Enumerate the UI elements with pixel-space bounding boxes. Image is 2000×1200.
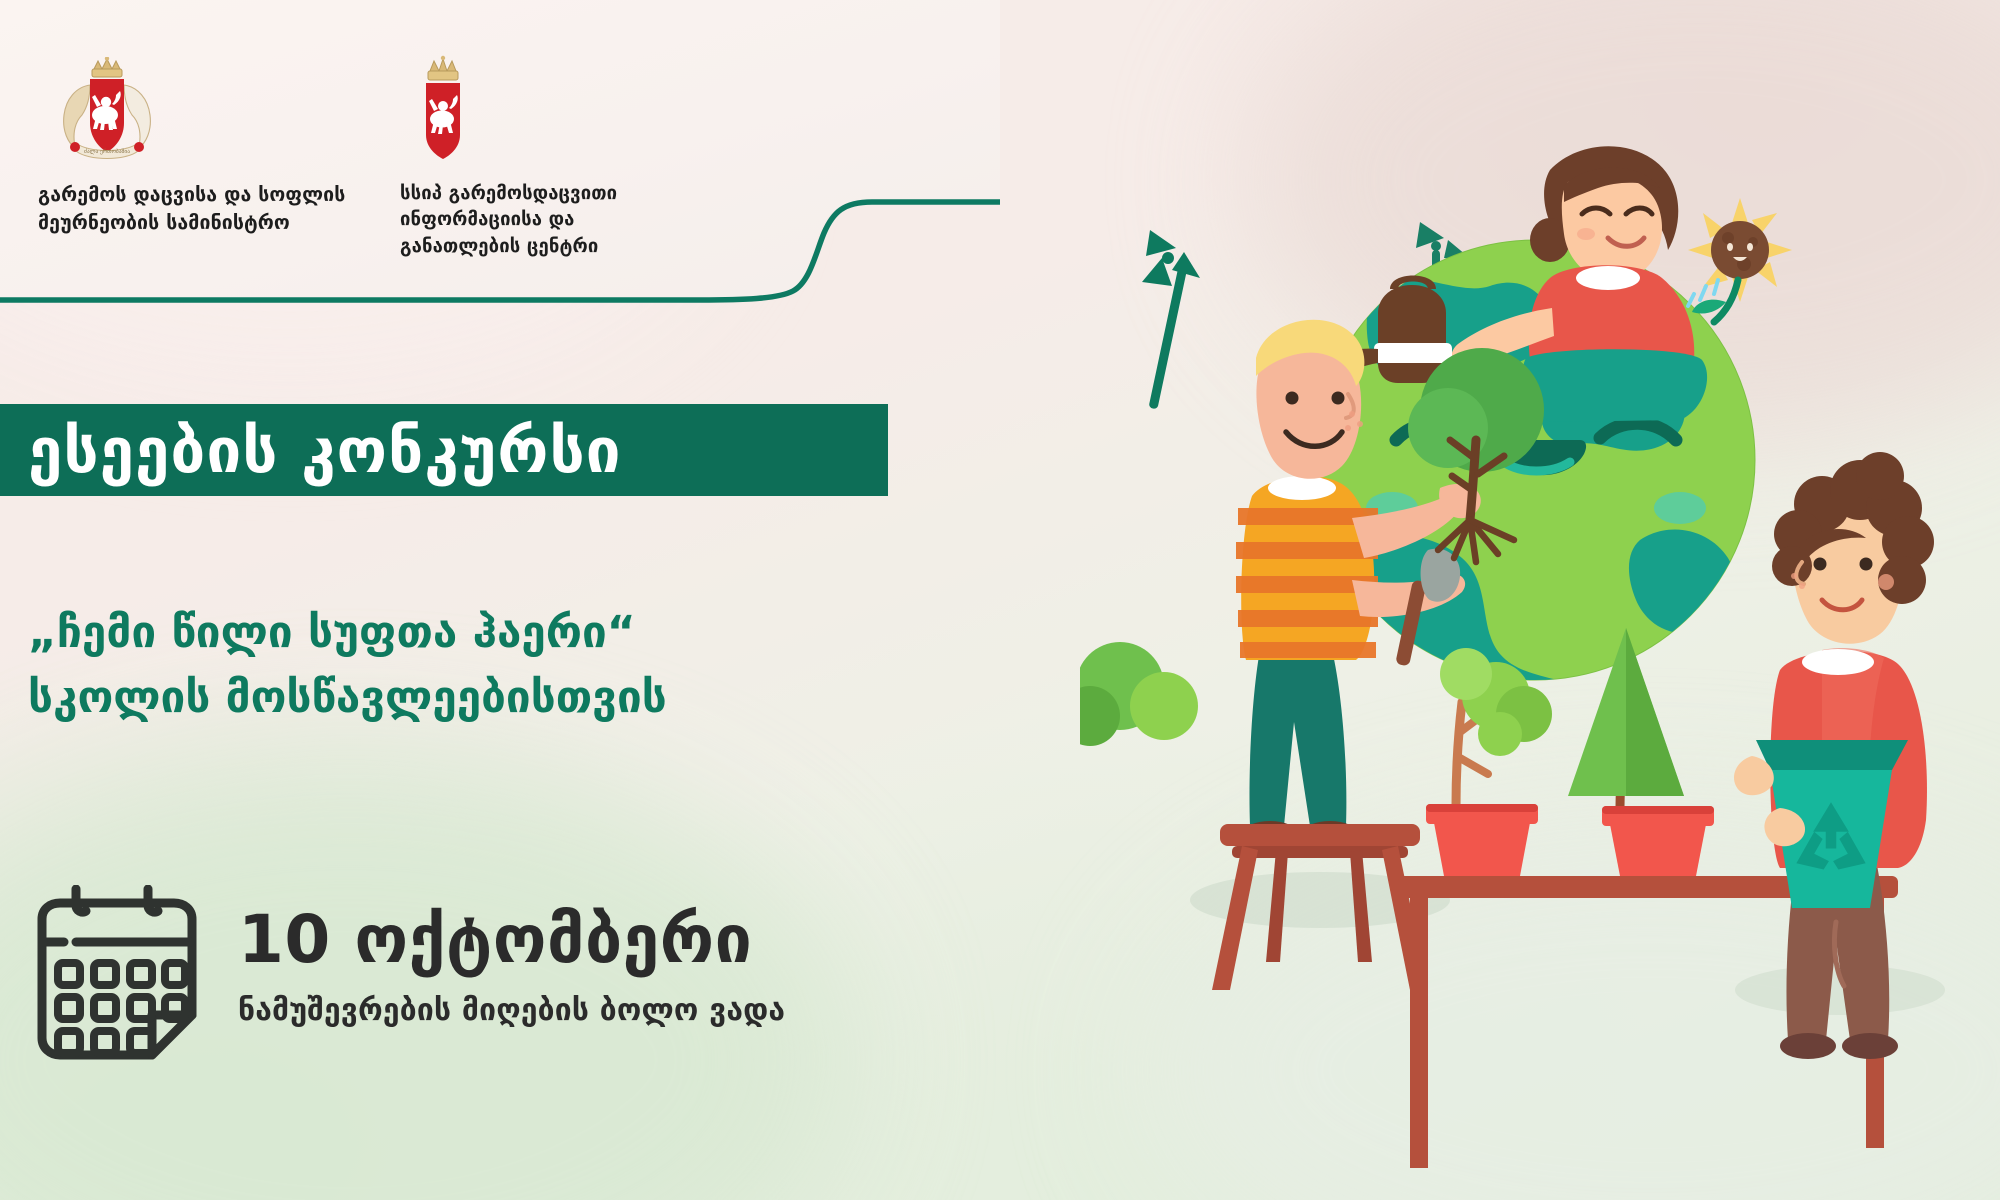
deadline-caption: ნამუშევრების მიღების ბოლო ვადა	[238, 993, 785, 1028]
deadline-text: 10 ოქტომბერი ნამუშევრების მიღების ბოლო ვ…	[238, 885, 785, 1028]
boy-collar	[1268, 476, 1336, 500]
potted-plant-left	[1426, 648, 1552, 876]
center-logo-line-2: ინფორმაციისა და	[400, 207, 730, 233]
recycle-boy-eye-right	[1860, 558, 1873, 571]
deadline-date: 10 ოქტომბერი	[238, 907, 785, 973]
boy-pants	[1249, 650, 1346, 826]
georgia-state-coat-of-arms-icon: ძალა ერთობაშია	[42, 55, 358, 165]
boy-eye-left	[1286, 392, 1299, 405]
logo-row: ძალა ერთობაშია გარემოს დაცვისა და სოფლის…	[0, 55, 900, 260]
center-logo-line-3: განათლების ცენტრი	[400, 234, 730, 260]
ministry-logo: ძალა ერთობაშია გარემოს დაცვისა და სოფლის…	[38, 55, 358, 260]
svg-text:ძალა ერთობაშია: ძალა ერთობაშია	[84, 148, 130, 155]
foreground-bush	[1080, 642, 1198, 746]
deadline-block: 10 ოქტომბერი ნამუშევრების მიღების ბოლო ვ…	[28, 885, 785, 1065]
ministry-logo-line-1: გარემოს დაცვისა და სოფლის	[38, 181, 358, 209]
title-banner: ესეების კონკურსი	[0, 404, 888, 496]
calendar-icon	[28, 885, 204, 1065]
center-logo: სსიპ გარემოსდაცვითი ინფორმაციისა და განა…	[400, 55, 730, 260]
girl-dress	[1523, 349, 1707, 422]
georgia-shield-crest-icon	[408, 55, 730, 165]
ministry-logo-text: გარემოს დაცვისა და სოფლის მეურნეობის სამ…	[38, 181, 358, 236]
boy-shirt	[1241, 476, 1374, 660]
center-logo-text: სსიპ გარემოსდაცვითი ინფორმაციისა და განა…	[400, 181, 730, 260]
center-logo-line-1: სსიპ გარემოსდაცვითი	[400, 181, 730, 207]
recycle-boy-collar	[1802, 649, 1874, 675]
children-planting-earth-illustration	[1080, 110, 2000, 1200]
sunflower	[1688, 198, 1792, 322]
boy-eye-right	[1332, 392, 1345, 405]
girl-collar	[1576, 266, 1640, 290]
ministry-logo-line-2: მეურნეობის სამინისტრო	[38, 209, 358, 237]
page-title: ესეების კონკურსი	[28, 414, 622, 487]
wind-turbine-left	[1142, 230, 1200, 409]
subtitle-line-1: „ჩემი წილი სუფთა ჰაერი“	[28, 607, 636, 658]
subtitle: „ჩემი წილი სუფთა ჰაერი“ სკოლის მოსწავლეე…	[28, 600, 1028, 730]
subtitle-line-2: სკოლის მოსწავლეებისთვის	[28, 665, 1028, 730]
poster-canvas: ძალა ერთობაშია გარემოს დაცვისა და სოფლის…	[0, 0, 2000, 1200]
recycle-boy-eye-left	[1814, 558, 1827, 571]
